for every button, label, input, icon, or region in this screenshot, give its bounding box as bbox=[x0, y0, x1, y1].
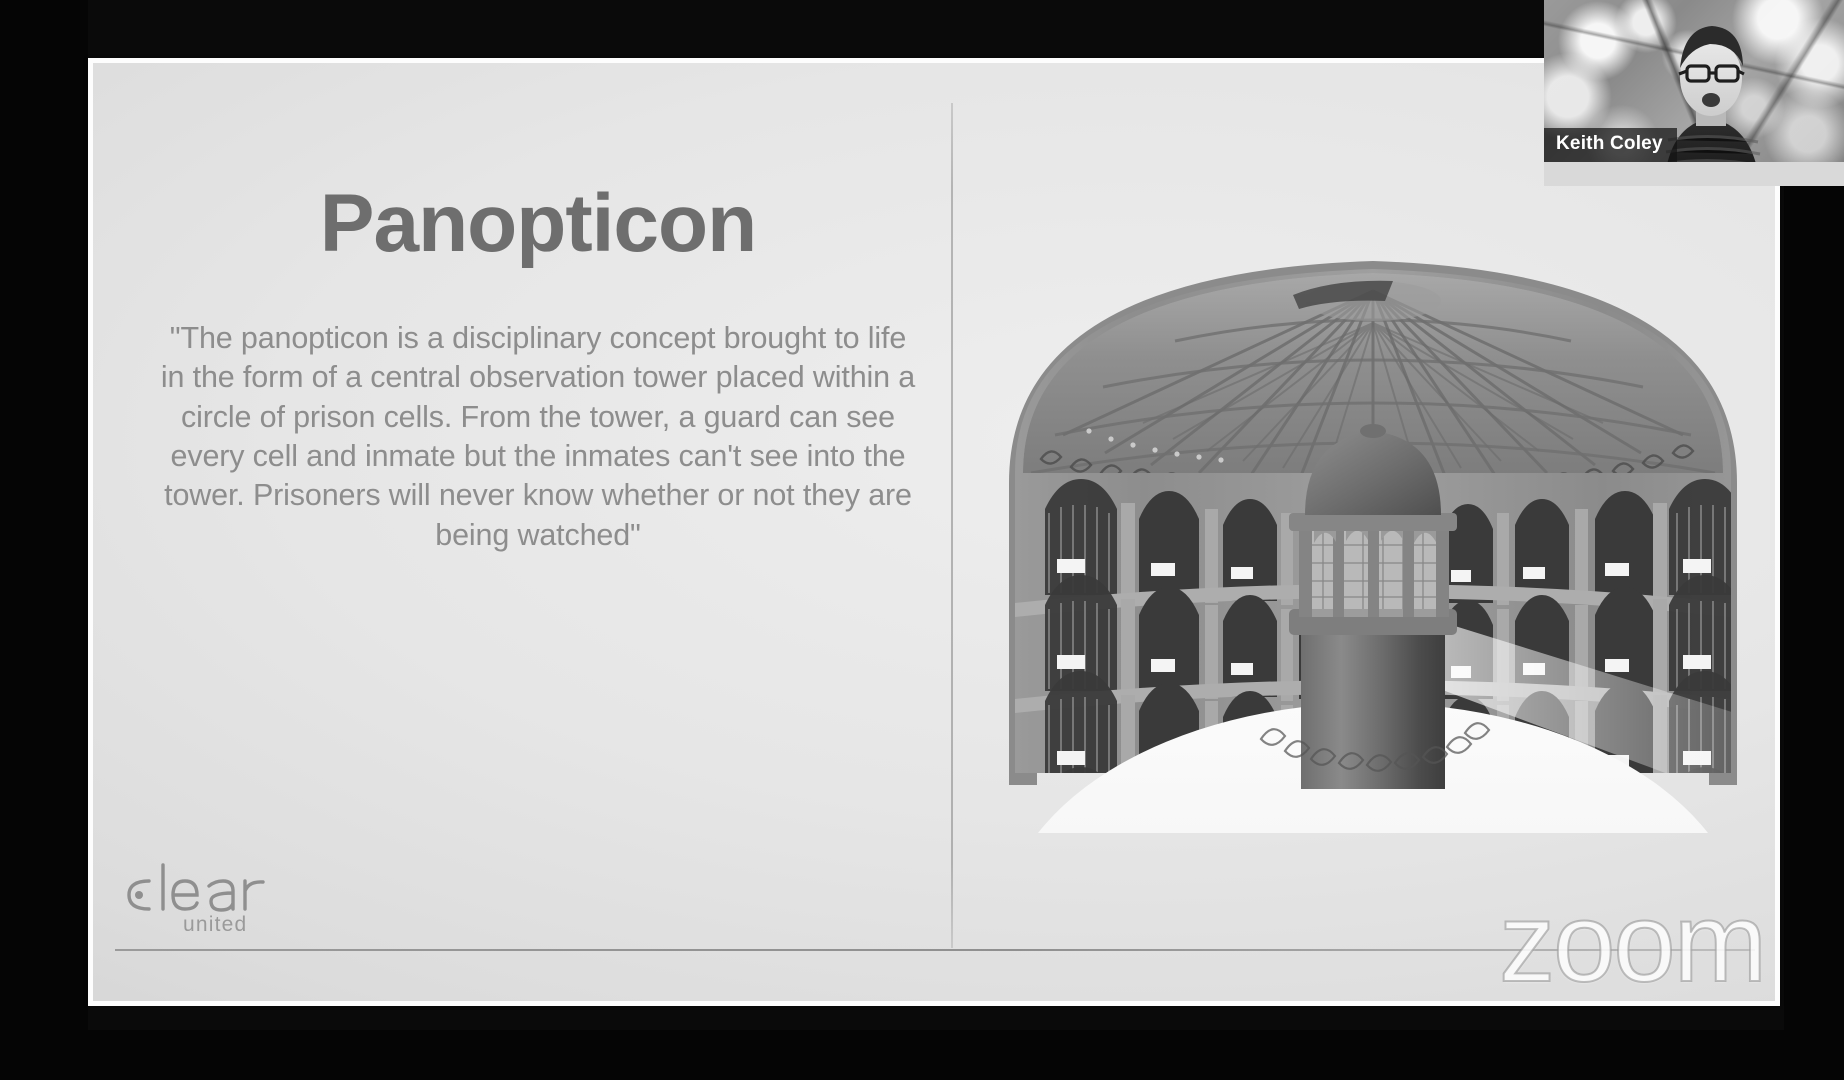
participant-name-label: Keith Coley bbox=[1544, 128, 1677, 162]
zoom-watermark: zoom bbox=[1499, 887, 1765, 999]
zoom-screenshare-stage: Panopticon "The panopticon is a discipli… bbox=[0, 0, 1844, 1080]
slide-text-column: Panopticon "The panopticon is a discipli… bbox=[133, 183, 943, 555]
panopticon-svg bbox=[993, 173, 1753, 833]
panopticon-illustration bbox=[993, 173, 1753, 833]
tower-cornice bbox=[1289, 513, 1457, 531]
presentation-slide: Panopticon "The panopticon is a discipli… bbox=[93, 63, 1775, 1001]
clear-united-logo-svg: united bbox=[115, 853, 345, 939]
participant-mouth bbox=[1702, 93, 1720, 107]
page-title: Panopticon bbox=[133, 183, 943, 265]
clear-united-logo: united bbox=[115, 853, 345, 939]
logo-subtext: united bbox=[183, 913, 247, 936]
participant-video-tile[interactable]: Keith Coley bbox=[1544, 0, 1844, 186]
tower-finial bbox=[1360, 424, 1386, 438]
logo-dot bbox=[135, 891, 143, 899]
vertical-divider bbox=[951, 103, 953, 948]
tile-bottom-strip bbox=[1544, 162, 1844, 186]
slide-body-quote: "The panopticon is a disciplinary concep… bbox=[133, 319, 943, 555]
presentation-slide-frame[interactable]: Panopticon "The panopticon is a discipli… bbox=[88, 58, 1780, 1006]
